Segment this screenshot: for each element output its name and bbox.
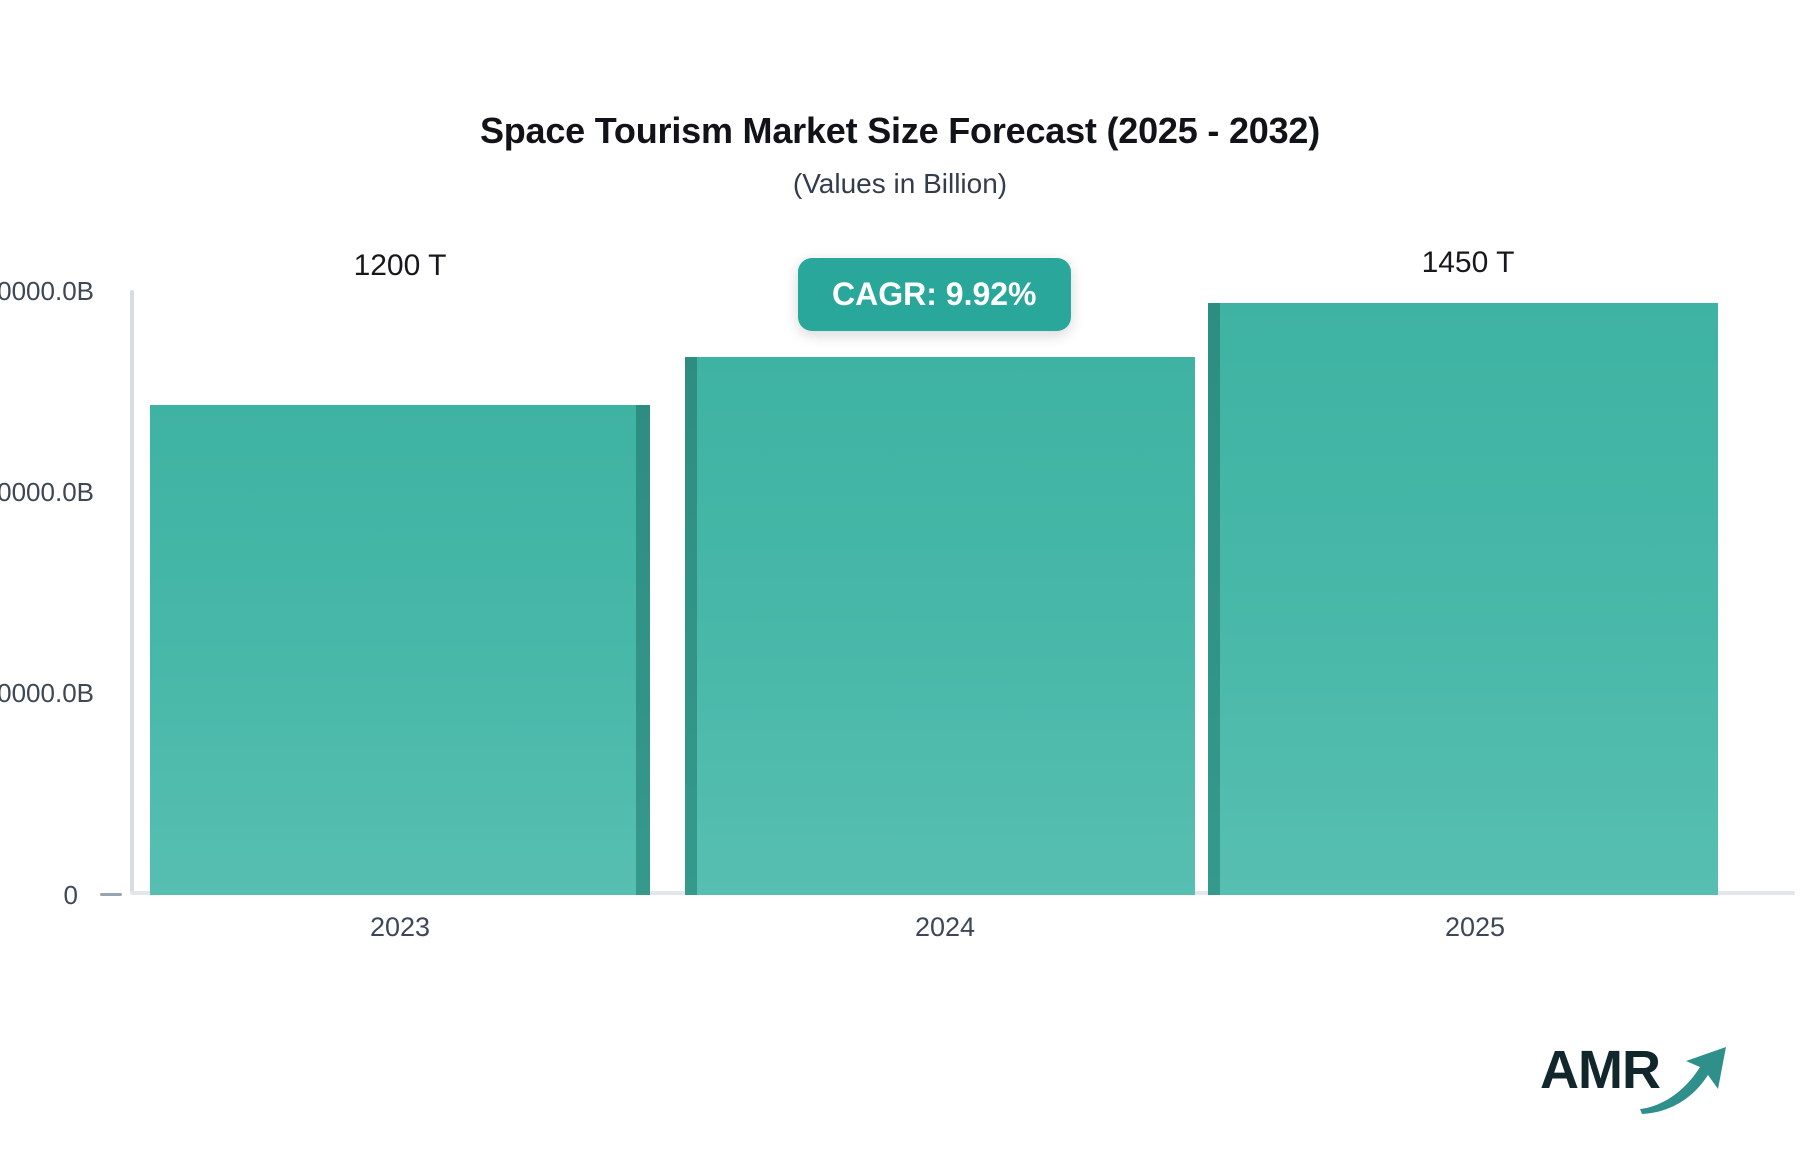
y-tick-label-0: 0 — [64, 880, 78, 911]
chart-canvas: Space Tourism Market Size Forecast (2025… — [0, 0, 1800, 1156]
x-tick-label-2024: 2024 — [845, 912, 1045, 943]
bar-group-2023[interactable]: 1200 T — [150, 295, 650, 895]
bar-value-label-2023: 1200 T — [150, 249, 650, 283]
bar-value-label-2025: 1450 T — [1218, 246, 1718, 280]
plot-area: 1200 T 1320 T 1450 T — [130, 290, 1730, 895]
y-tick-label-2: 00000.0B — [0, 477, 94, 508]
chart-subtitle: (Values in Billion) — [0, 168, 1800, 200]
x-tick-label-2023: 2023 — [300, 912, 500, 943]
bar-2024[interactable] — [695, 357, 1195, 895]
bar-2024-shadow-left — [685, 357, 697, 895]
y-tick-dash-0 — [100, 893, 122, 896]
bar-2023-shadow — [636, 405, 650, 895]
chart-title: Space Tourism Market Size Forecast (2025… — [0, 110, 1800, 152]
bar-group-2025[interactable]: 1450 T — [1218, 295, 1718, 895]
y-tick-label-1: 00000.0B — [0, 678, 94, 709]
bar-group-2024[interactable]: 1320 T — [695, 295, 1195, 895]
bar-2025[interactable] — [1218, 303, 1718, 895]
cagr-badge: CAGR: 9.92% — [798, 258, 1071, 331]
amr-logo: AMR — [1540, 1035, 1730, 1115]
y-tick-label-3: 00000.0B — [0, 276, 94, 307]
growth-arrow-icon — [1638, 1043, 1730, 1115]
x-tick-label-2025: 2025 — [1375, 912, 1575, 943]
bar-2025-shadow-left — [1208, 303, 1220, 895]
bar-2023[interactable] — [150, 405, 650, 895]
